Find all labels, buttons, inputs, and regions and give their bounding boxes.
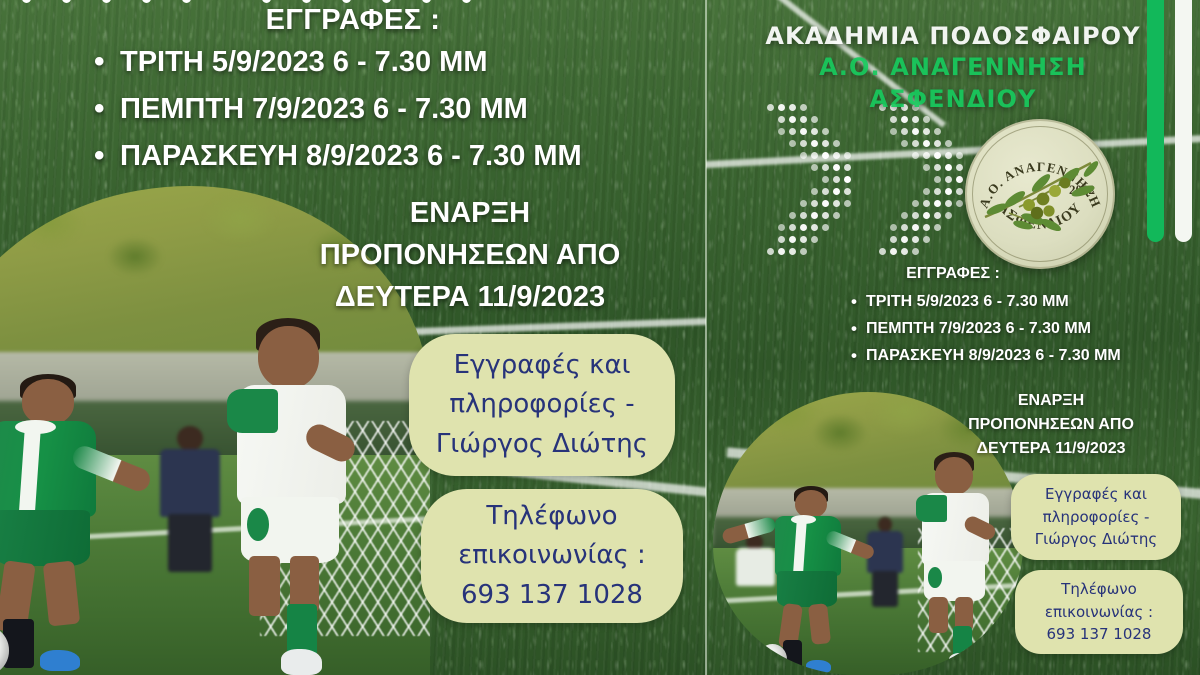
panel-divider [705, 0, 707, 675]
contact-callout-right: Εγγραφές και πληροφορίες - Γιώργος Διώτη… [1011, 474, 1181, 560]
club-name-line: ΑΣΦΕΝΔΙΟΥ [706, 84, 1200, 116]
registrations-heading-right: ΕΓΓΡΑΦΕΣ : [706, 265, 1200, 283]
contact-callout-left: Εγγραφές και πληροφορίες - Γιώργος Διώτη… [409, 334, 675, 476]
contact-line: Εγγραφές και [1011, 483, 1181, 506]
club-name-title: Α.Ο. ΑΝΑΓΕΝΝΗΣΗ ΑΣΦΕΝΔΙΟΥ [706, 52, 1200, 115]
phone-number: 693 137 1028 [421, 576, 683, 616]
club-name-line: Α.Ο. ΑΝΑΓΕΝΝΗΣΗ [706, 52, 1200, 84]
session-list-left: ΤΡΙΤΗ 5/9/2023 6 - 7.30 ΜΜ ΠΕΜΠΤΗ 7/9/20… [120, 46, 706, 187]
phone-line: επικοινωνίας : [421, 536, 683, 576]
academy-title: ΑΚΑΔΗΜΙΑ ΠΟΔΟΣΦΑΙΡΟΥ [706, 22, 1200, 50]
training-start-line: ΔΕΥΤΕΡΑ 11/9/2023 [240, 276, 700, 318]
training-start-line: ΠΡΟΠΟΝΗΣΕΩΝ ΑΠΟ [240, 234, 700, 276]
phone-callout-left: Τηλέφωνο επικοινωνίας : 693 137 1028 [421, 489, 683, 623]
contact-line: Εγγραφές και [409, 346, 675, 386]
registrations-heading-left: ΕΓΓΡΑΦΕΣ : [0, 4, 706, 37]
accent-bar-green [1147, 0, 1164, 242]
contact-line: Γιώργος Διώτης [1011, 528, 1181, 551]
training-start-block-left: ΕΝΑΡΞΗ ΠΡΟΠΟΝΗΣΕΩΝ ΑΠΟ ΔΕΥΤΕΡΑ 11/9/2023 [240, 192, 700, 318]
training-start-line: ΠΡΟΠΟΝΗΣΕΩΝ ΑΠΟ [906, 413, 1196, 437]
session-item: ΤΡΙΤΗ 5/9/2023 6 - 7.30 ΜΜ [866, 293, 1196, 311]
session-item: ΠΕΜΠΤΗ 7/9/2023 6 - 7.30 ΜΜ [866, 320, 1196, 338]
training-start-line: ΕΝΑΡΞΗ [240, 192, 700, 234]
phone-number: 693 137 1028 [1015, 623, 1183, 646]
training-start-block-right: ΕΝΑΡΞΗ ΠΡΟΠΟΝΗΣΕΩΝ ΑΠΟ ΔΕΥΤΕΡΑ 11/9/2023 [906, 389, 1196, 461]
phone-line: Τηλέφωνο [1015, 578, 1183, 601]
poster-canvas: ΕΓΓΡΑΦΕΣ : ΤΡΙΤΗ 5/9/2023 6 - 7.30 ΜΜ ΠΕ… [0, 0, 1200, 675]
phone-callout-right: Τηλέφωνο επικοινωνίας : 693 137 1028 [1015, 570, 1183, 654]
session-item: ΠΑΡΑΣΚΕΥΗ 8/9/2023 6 - 7.30 ΜΜ [866, 347, 1196, 365]
olive-branch-icon [979, 155, 1103, 233]
contact-line: πληροφορίες - [409, 385, 675, 425]
training-start-line: ΔΕΥΤΕΡΑ 11/9/2023 [906, 437, 1196, 461]
session-item: ΤΡΙΤΗ 5/9/2023 6 - 7.30 ΜΜ [120, 46, 706, 79]
session-item: ΠΕΜΠΤΗ 7/9/2023 6 - 7.30 ΜΜ [120, 93, 706, 126]
contact-line: Γιώργος Διώτης [409, 425, 675, 465]
contact-line: πληροφορίες - [1011, 506, 1181, 529]
club-badge-logo: Α.Ο. ΑΝΑΓΕΝΝΗΣΗ ΑΣΦΕΝΔΙΟΥ 2012 [965, 119, 1115, 269]
phone-line: επικοινωνίας : [1015, 601, 1183, 624]
phone-line: Τηλέφωνο [421, 497, 683, 537]
session-list-right: ΤΡΙΤΗ 5/9/2023 6 - 7.30 ΜΜ ΠΕΜΠΤΗ 7/9/20… [866, 293, 1196, 374]
accent-bar-white [1175, 0, 1192, 242]
training-start-line: ΕΝΑΡΞΗ [906, 389, 1196, 413]
session-item: ΠΑΡΑΣΚΕΥΗ 8/9/2023 6 - 7.30 ΜΜ [120, 140, 706, 173]
